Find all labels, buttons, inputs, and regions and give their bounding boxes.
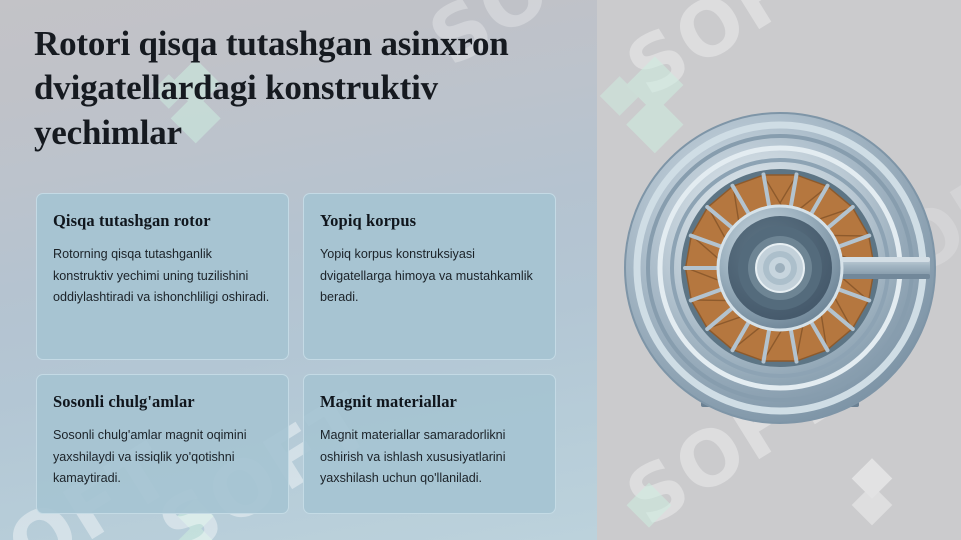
feature-card[interactable]: Magnit materiallar Magnit materiallar sa… [303,374,556,514]
electric-motor-illustration [615,105,945,435]
rotor-hub [718,206,842,330]
feature-card-title: Yopiq korpus [320,211,539,231]
feature-card-title: Qisqa tutashgan rotor [53,211,272,231]
content-panel: SOFT SOFT SOFT Rotori qisqa tutashgan as… [0,0,597,540]
feature-card[interactable]: Sosonli chulg'amlar Sosonli chulg'amlar … [36,374,289,514]
feature-card-title: Magnit materiallar [320,392,539,412]
brand-logo-watermark [609,478,689,540]
illustration-panel: SOFT SOFT SOFT [597,0,961,540]
brand-logo-watermark [833,452,911,530]
feature-card-title: Sosonli chulg'amlar [53,392,272,412]
feature-card-grid: Qisqa tutashgan rotor Rotorning qisqa tu… [36,193,556,514]
slide-root: SOFT SOFT SOFT Rotori qisqa tutashgan as… [0,0,961,540]
feature-card[interactable]: Qisqa tutashgan rotor Rotorning qisqa tu… [36,193,289,360]
feature-card-body: Yopiq korpus konstruksiyasi dvigatellarg… [320,244,539,309]
page-title: Rotori qisqa tutashgan asinxron dvigatel… [34,22,564,155]
feature-card-body: Sosonli chulg'amlar magnit oqimini yaxsh… [53,425,272,490]
feature-card[interactable]: Yopiq korpus Yopiq korpus konstruksiyasi… [303,193,556,360]
feature-card-body: Rotorning qisqa tutashganlik konstruktiv… [53,244,272,309]
feature-card-body: Magnit materiallar samaradorlikni oshiri… [320,425,539,490]
watermark-text: SOFT [611,0,854,113]
